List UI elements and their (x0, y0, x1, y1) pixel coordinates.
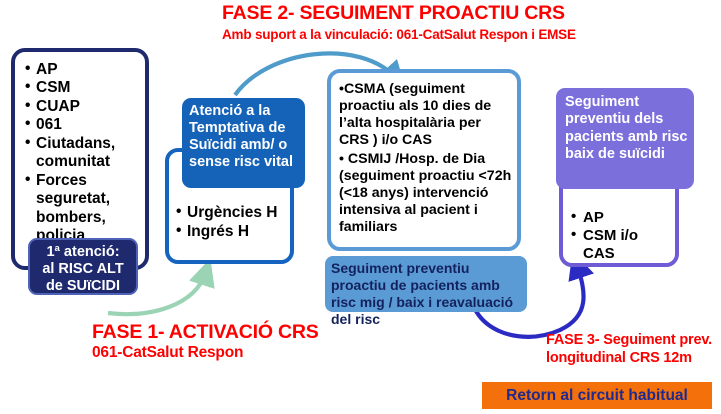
phase1-title: FASE 1- ACTIVACIÓ CRS (92, 322, 319, 344)
sources-list: AP CSM CUAP 061 Ciutadans, comunitat For… (15, 52, 145, 264)
phase1-subtitle: 061-CatSalut Respon (92, 344, 243, 361)
proactive-bullet-2: • CSMIJ /Hosp. de Dia (seguiment proacti… (339, 151, 513, 236)
proactive-followup-box: •CSMA (seguiment proactiu als 10 dies de… (327, 69, 521, 251)
phase2-subtitle: Amb suport a la vinculació: 061-CatSalut… (222, 27, 576, 42)
phase3-subtitle: longitudinal CRS 12m (546, 350, 692, 366)
diagram-canvas: FASE 2- SEGUIMENT PROACTIU CRS Amb supor… (0, 0, 721, 414)
high-risk-badge-line1: 1ª atenció: (30, 244, 136, 261)
list-item: CSM (25, 79, 141, 97)
high-risk-badge-line2: al RISC ALT (30, 261, 136, 278)
list-item: Ingrés H (176, 222, 288, 241)
sources-box: AP CSM CUAP 061 Ciutadans, comunitat For… (11, 48, 149, 270)
attention-node-header: Atenció a la Temptativa de Suïcidi amb/ … (182, 98, 305, 188)
list-item: CUAP (25, 98, 141, 116)
list-item: AP (25, 61, 141, 79)
list-item: Ciutadans, comunitat (25, 135, 141, 172)
list-item: CSM i/o CAS (571, 227, 673, 263)
return-circuit-bar: Retorn al circuit habitual (482, 382, 712, 409)
midrisk-followup-box: Seguiment preventiu proactiu de pacients… (325, 256, 527, 312)
high-risk-badge-line3: de SUïCIDI (30, 278, 136, 295)
phase3-title: FASE 3- Seguiment prev. (546, 332, 712, 348)
list-item: AP (571, 209, 673, 227)
proactive-bullet-1: •CSMA (seguiment proactiu als 10 dies de… (339, 81, 513, 149)
list-item: 061 (25, 116, 141, 134)
high-risk-badge: 1ª atenció: al RISC ALT de SUïCIDI (28, 238, 138, 295)
phase2-title: FASE 2- SEGUIMENT PROACTIU CRS (222, 3, 565, 25)
list-item: Urgències H (176, 203, 288, 222)
lowrisk-node-header: Seguiment preventiu dels pacients amb ri… (556, 88, 694, 189)
